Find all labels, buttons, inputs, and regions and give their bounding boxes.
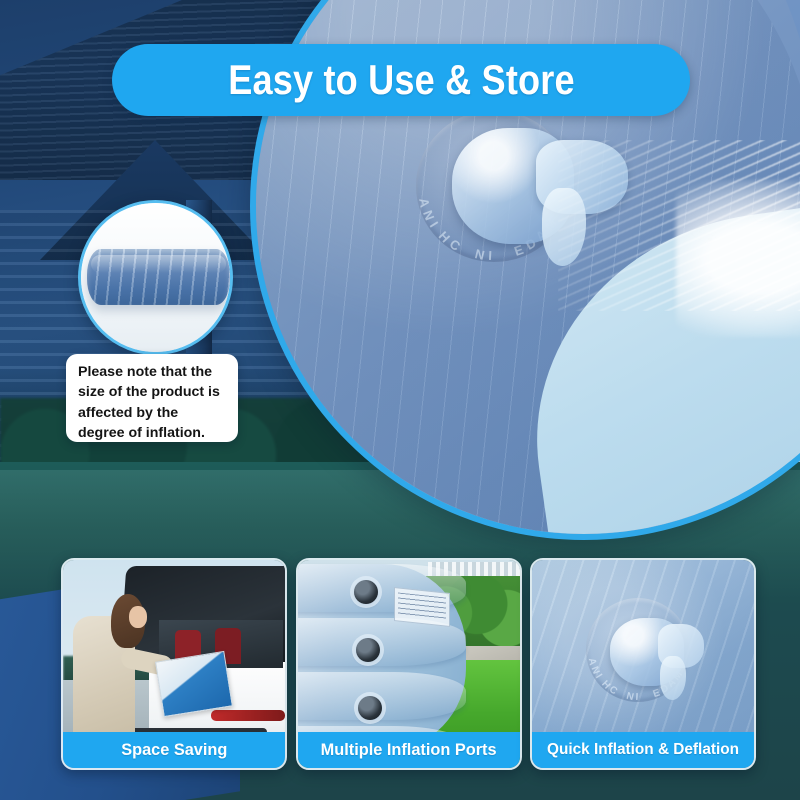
thumbnail-caption-bar: Multiple Inflation Ports [298, 732, 520, 768]
inflation-port-3 [358, 696, 382, 720]
folded-product-inset [78, 200, 233, 355]
feature-thumbnail-space-saving: Space Saving [61, 558, 287, 770]
feature-thumbnail-quick-inflation: MADE IN CHINA Quick Inflation & Deflatio… [530, 558, 756, 770]
folded-product [87, 249, 230, 305]
product-box [155, 651, 233, 717]
thumbnail-caption-text: Multiple Inflation Ports [321, 740, 497, 760]
pool-spec-label [394, 587, 450, 627]
marketing-image-canvas: MADE IN CHINA Easy to Use & Store Please… [0, 0, 800, 800]
thumbnail-caption-text: Quick Inflation & Deflation [547, 741, 739, 759]
title-text: Easy to Use & Store [228, 56, 575, 104]
car-taillight [211, 710, 285, 721]
inflation-port-2 [356, 638, 380, 662]
thumbnail-caption-bar: Space Saving [63, 732, 285, 768]
air-mist [676, 180, 800, 337]
thumbnail-caption-bar: Quick Inflation & Deflation [532, 732, 754, 768]
title-banner: Easy to Use & Store [112, 44, 690, 116]
feature-thumbnail-inflation-ports: Multiple Inflation Ports [296, 558, 522, 770]
note-text: Please note that the size of the product… [78, 362, 227, 443]
thumbnail-caption-text: Space Saving [121, 740, 227, 760]
note-callout-box: Please note that the size of the product… [66, 354, 238, 442]
woman-face [129, 606, 147, 628]
pool-ring-3 [296, 672, 466, 720]
inflation-port-1 [354, 580, 378, 604]
